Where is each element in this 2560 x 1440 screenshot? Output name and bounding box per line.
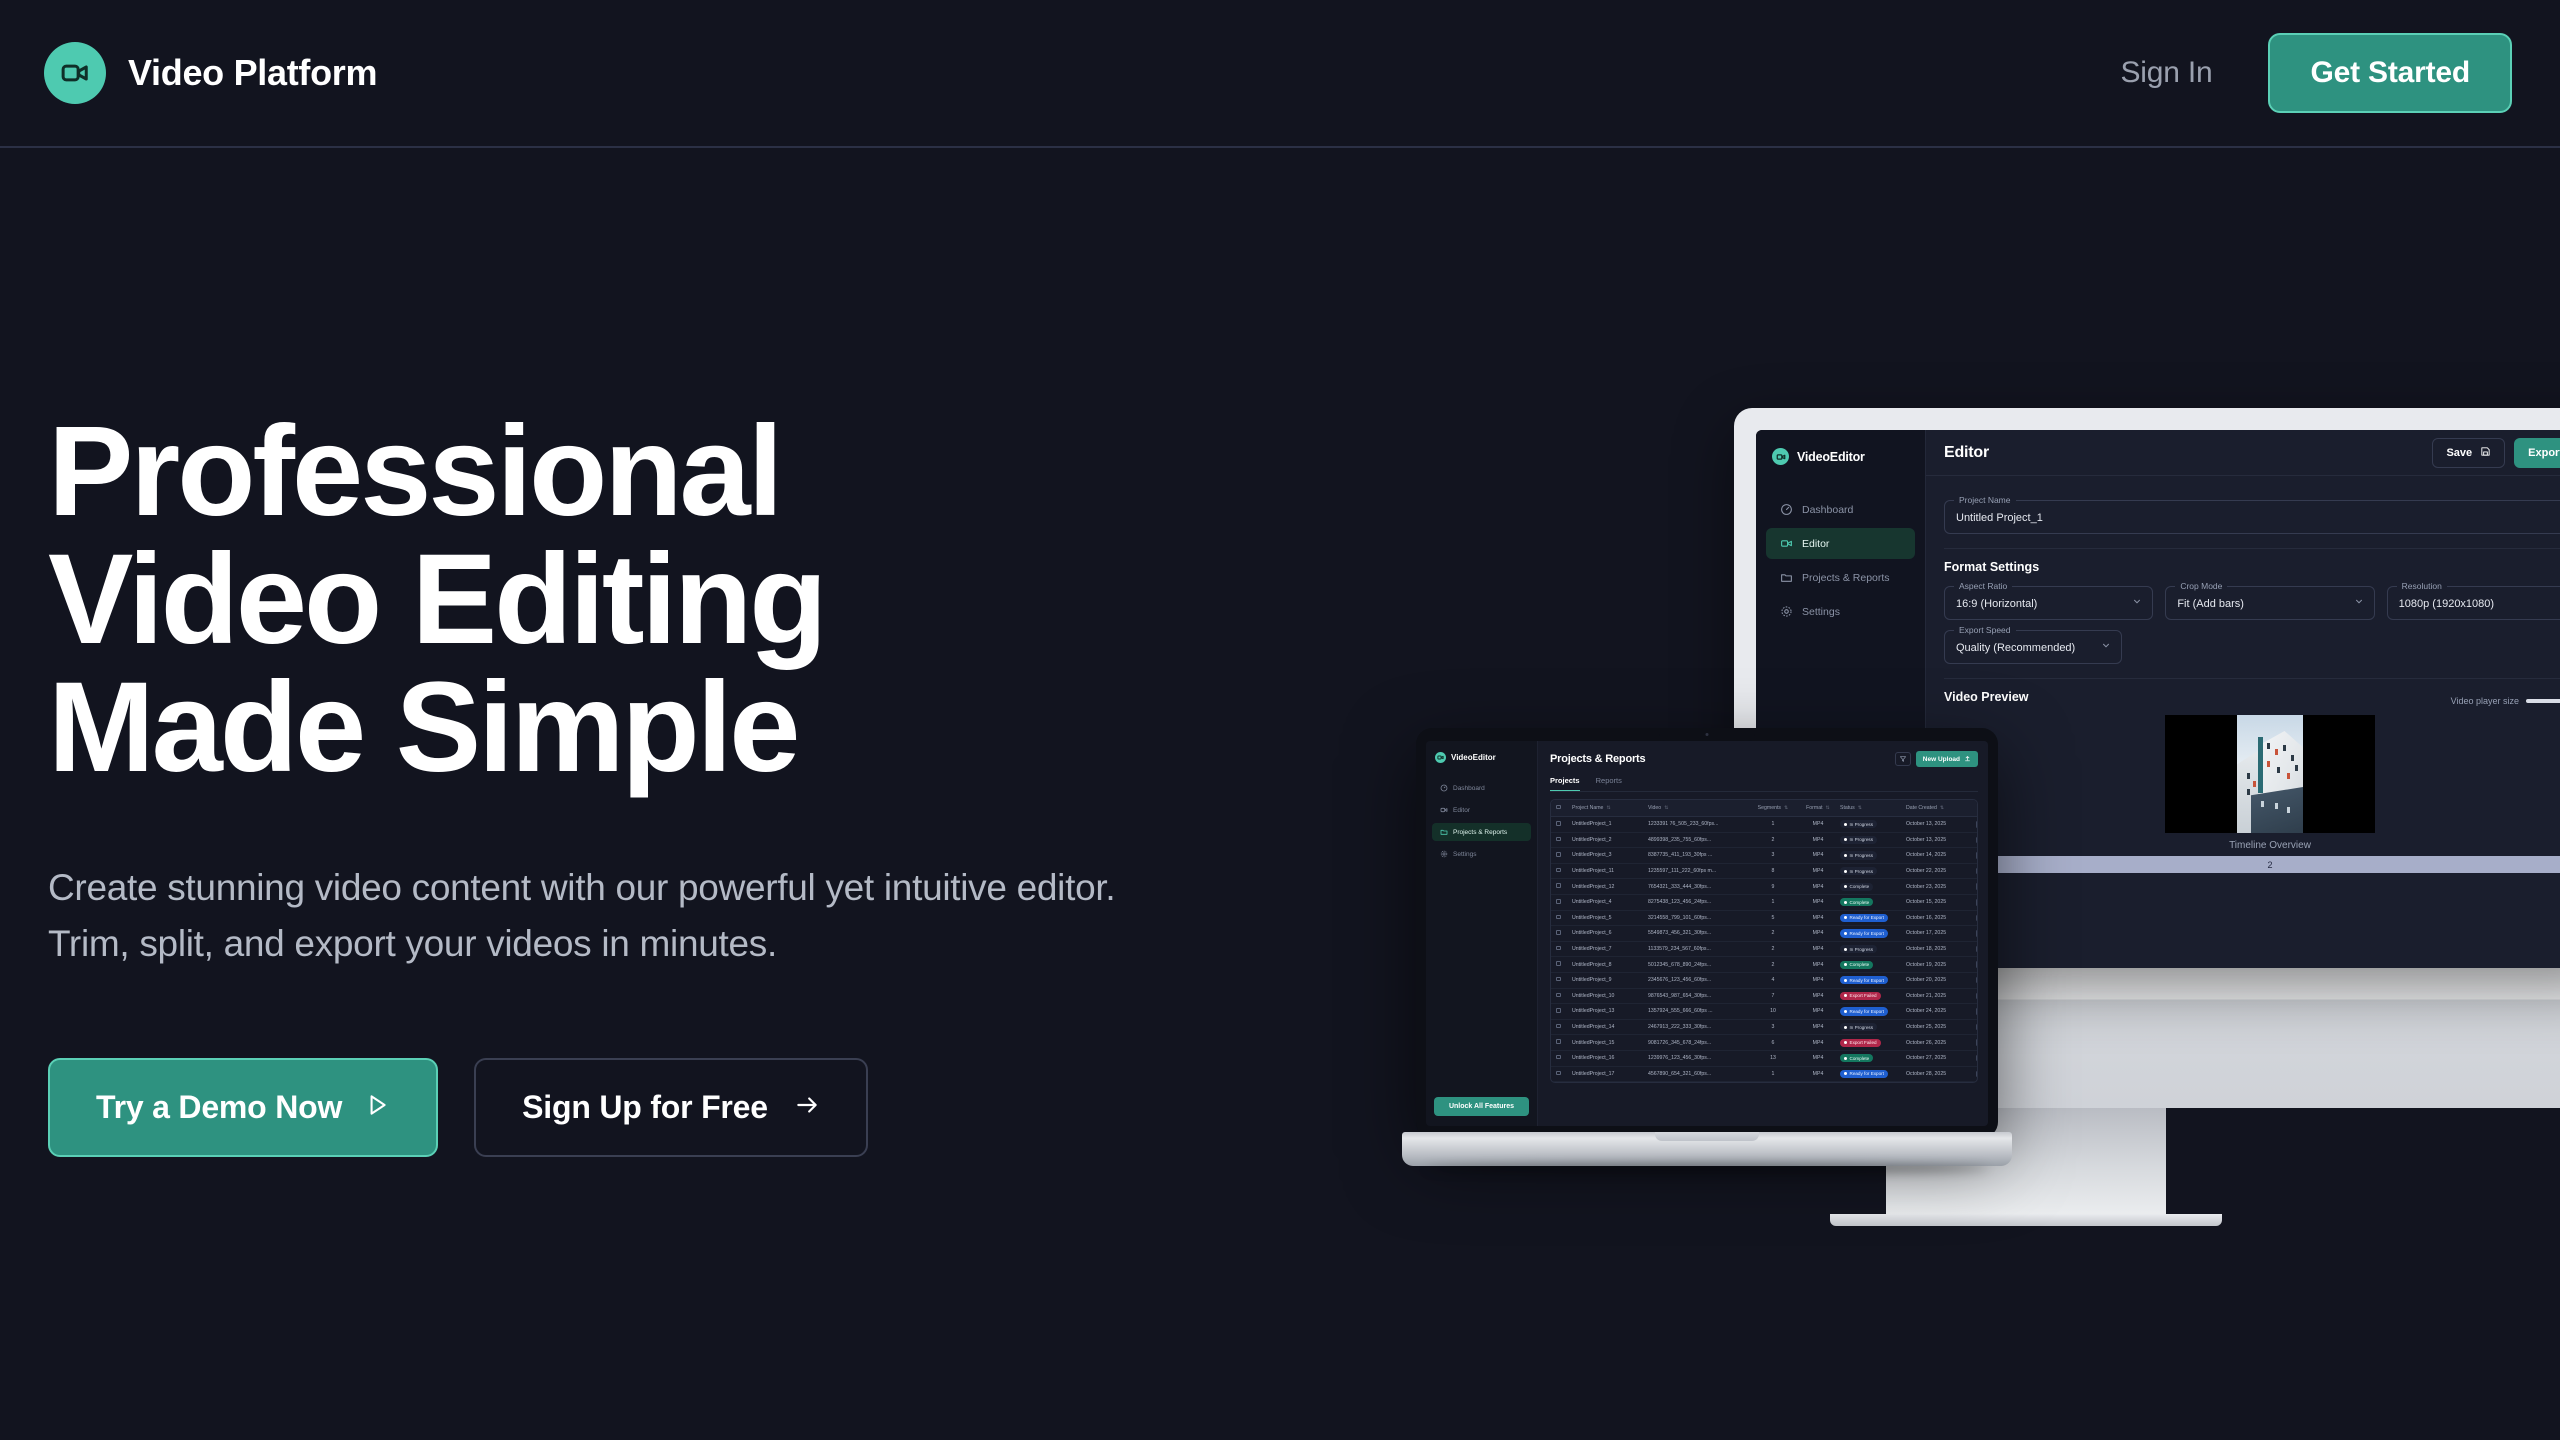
row-checkbox[interactable] [1556, 961, 1572, 968]
video-camera-icon [1772, 448, 1789, 465]
edit-icon[interactable]: ✎ [1976, 883, 1979, 890]
status-badge: Complete [1840, 883, 1873, 891]
brand-logo-link[interactable]: Video Platform [44, 42, 377, 104]
gear-icon [1780, 605, 1793, 618]
row-checkbox[interactable] [1556, 899, 1572, 906]
cell-status: In Progress [1840, 836, 1906, 844]
sidebar-item-label: Projects & Reports [1453, 829, 1507, 836]
cell-status: Ready for Export [1840, 1070, 1906, 1078]
cell-segments: 8 [1750, 868, 1796, 874]
sidebar-item-label: Settings [1453, 851, 1477, 858]
cell-video: 9081726_345_678_24fps... [1648, 1040, 1750, 1046]
row-checkbox[interactable] [1556, 930, 1572, 937]
video-camera-icon [1435, 752, 1446, 763]
table-row[interactable]: UntitledProject_174567890_654_321_60fps.… [1551, 1067, 1977, 1083]
cell-actions: ✎↧🗑 [1966, 1024, 1978, 1031]
edit-icon[interactable]: ✎ [1976, 868, 1979, 875]
arrow-right-icon [794, 1089, 820, 1126]
edit-icon[interactable]: ✎ [1976, 946, 1979, 953]
status-badge: Export Failed [1840, 992, 1881, 1000]
editor-brand-name: VideoEditor [1797, 450, 1865, 464]
editor-topbar-actions: Save Export [2432, 438, 2560, 468]
cell-actions: ✎↧🗑 [1966, 1071, 1978, 1078]
edit-icon[interactable]: ✎ [1976, 1071, 1979, 1078]
player-size-control[interactable]: Video player size [2451, 696, 2560, 706]
monitor-foot [1830, 1214, 2222, 1226]
device-mockups: VideoEditor Dashboard Edit [1330, 0, 2560, 1440]
tab-projects[interactable]: Projects [1550, 776, 1580, 791]
sign-up-free-button[interactable]: Sign Up for Free [474, 1058, 868, 1157]
cell-format: MP4 [1796, 1071, 1840, 1077]
edit-icon[interactable]: ✎ [1976, 852, 1979, 859]
cell-date-created: October 27, 2025 [1906, 1055, 1966, 1061]
cell-segments: 1 [1750, 1071, 1796, 1077]
edit-icon[interactable]: ✎ [1976, 1024, 1979, 1031]
sidebar-item-dashboard[interactable]: Dashboard [1766, 494, 1915, 525]
edit-icon[interactable]: ✎ [1976, 961, 1979, 968]
column-header-segments[interactable]: Segments⇅ [1750, 805, 1796, 811]
cell-date-created: October 15, 2025 [1906, 899, 1966, 905]
cell-date-created: October 23, 2025 [1906, 884, 1966, 890]
cell-date-created: October 16, 2025 [1906, 915, 1966, 921]
sidebar-item-label: Dashboard [1802, 504, 1853, 516]
status-badge: In Progress [1840, 1023, 1877, 1031]
row-checkbox[interactable] [1556, 883, 1572, 890]
cell-project-name: UntitledProject_2 [1572, 837, 1648, 843]
crop-mode-value: Fit (Add bars) [2177, 598, 2244, 610]
row-checkbox[interactable] [1556, 1024, 1572, 1031]
row-checkbox[interactable] [1556, 837, 1572, 844]
player-size-label: Video player size [2451, 696, 2519, 706]
projects-header: Projects & Reports New Upload [1550, 751, 1978, 767]
cell-project-name: UntitledProject_16 [1572, 1055, 1648, 1061]
cell-actions: ✎↧🗑 [1966, 946, 1978, 953]
cell-date-created: October 26, 2025 [1906, 1040, 1966, 1046]
table-row[interactable]: UntitledProject_131357924_555_666_60fps … [1551, 1004, 1977, 1020]
resolution-label: Resolution [2397, 581, 2447, 591]
sidebar-item-label: Projects & Reports [1802, 572, 1890, 584]
edit-icon[interactable]: ✎ [1976, 899, 1979, 906]
cell-actions: ✎↧🗑 [1966, 961, 1978, 968]
resolution-value: 1080p (1920x1080) [2399, 598, 2494, 610]
cell-video: 1239976_123_456_30fps... [1648, 1055, 1750, 1061]
cell-format: MP4 [1796, 821, 1840, 827]
try-demo-button[interactable]: Try a Demo Now [48, 1058, 438, 1157]
cell-format: MP4 [1796, 884, 1840, 890]
status-badge: In Progress [1840, 867, 1877, 875]
editor-body: Project Name Untitled Project_1 Format S… [1926, 476, 2560, 887]
status-badge: Ready for Export [1840, 929, 1888, 937]
cell-format: MP4 [1796, 852, 1840, 858]
cell-format: MP4 [1796, 962, 1840, 968]
cell-actions: ✎↧🗑 [1966, 993, 1978, 1000]
edit-icon[interactable]: ✎ [1976, 977, 1979, 984]
table-row[interactable]: UntitledProject_38387735_411_193_30fps .… [1551, 848, 1977, 864]
cell-video: 4899398_235_755_60fps... [1648, 837, 1750, 843]
cell-actions: ✎↧🗑 [1966, 899, 1978, 906]
export-label: Export [2528, 447, 2560, 459]
unlock-all-features-button[interactable]: Unlock All Features [1434, 1097, 1529, 1116]
editor-topbar: Editor Save Export [1926, 430, 2560, 476]
timeline-caption: Timeline Overview [1944, 840, 2560, 851]
cell-status: Ready for Export [1840, 1007, 1906, 1015]
folder-icon [1780, 571, 1793, 584]
funnel-icon[interactable] [1895, 752, 1911, 766]
table-row[interactable]: UntitledProject_24899398_235_755_60fps..… [1551, 833, 1977, 849]
cell-video: 8275438_123_456_24fps... [1648, 899, 1750, 905]
table-row[interactable]: UntitledProject_85012345_678_890_24fps..… [1551, 957, 1977, 973]
cell-status: Complete [1840, 1054, 1906, 1062]
cell-actions: ✎↧🗑 [1966, 852, 1978, 859]
table-row[interactable]: UntitledProject_127654321_333_444_30fps.… [1551, 879, 1977, 895]
cell-actions: ✎↧🗑 [1966, 1039, 1978, 1046]
hero-cta-group: Try a Demo Now Sign Up for Free [48, 1058, 1300, 1157]
save-button[interactable]: Save [2432, 438, 2505, 468]
crop-mode-label: Crop Mode [2175, 581, 2227, 591]
divider [1944, 678, 2560, 679]
cell-segments: 2 [1750, 930, 1796, 936]
table-row[interactable]: UntitledProject_11233391 76_505_233_60fp… [1551, 817, 1977, 833]
table-row[interactable]: UntitledProject_109876543_987_654_30fps.… [1551, 989, 1977, 1005]
cell-date-created: October 17, 2025 [1906, 930, 1966, 936]
sidebar-item-projects-reports[interactable]: Projects & Reports [1432, 823, 1531, 841]
table-row[interactable]: UntitledProject_71133579_234_567_60fps..… [1551, 942, 1977, 958]
cell-project-name: UntitledProject_1 [1572, 821, 1648, 827]
column-header-status[interactable]: Status⇅ [1840, 805, 1906, 811]
tab-reports[interactable]: Reports [1596, 776, 1622, 791]
cell-date-created: October 25, 2025 [1906, 1024, 1966, 1030]
cell-project-name: UntitledProject_4 [1572, 899, 1648, 905]
player-size-slider[interactable] [2526, 699, 2560, 703]
cell-video: 7654321_333_444_30fps... [1648, 884, 1750, 890]
cell-project-name: UntitledProject_7 [1572, 946, 1648, 952]
project-name-label: Project Name [1954, 495, 2016, 505]
table-header-row: Project Name⇅ Video⇅ Segments⇅ Format⇅ S… [1551, 800, 1977, 817]
folder-icon [1440, 828, 1448, 836]
laptop-base [1402, 1132, 2012, 1166]
edit-icon[interactable]: ✎ [1976, 993, 1979, 1000]
projects-tabs: Projects Reports [1550, 776, 1978, 792]
table-row[interactable]: UntitledProject_48275438_123_456_24fps..… [1551, 895, 1977, 911]
projects-app: VideoEditor Dashboard Editor Projec [1426, 741, 1988, 1126]
page-title: Professional Video Editing Made Simple [48, 408, 1300, 792]
projects-sidebar: VideoEditor Dashboard Editor Projec [1426, 741, 1538, 1126]
cell-video: 5549873_456_321_30fps... [1648, 930, 1750, 936]
video-camera-icon [1440, 806, 1448, 814]
save-disk-icon [2480, 446, 2491, 460]
cell-date-created: October 21, 2025 [1906, 993, 1966, 999]
cell-segments: 9 [1750, 884, 1796, 890]
cell-video: 8387735_411_193_30fps ... [1648, 852, 1750, 858]
status-badge: Export Failed [1840, 1039, 1881, 1047]
column-header-format[interactable]: Format⇅ [1796, 805, 1840, 811]
projects-table: Project Name⇅ Video⇅ Segments⇅ Format⇅ S… [1550, 799, 1978, 1083]
cell-segments: 10 [1750, 1008, 1796, 1014]
edit-icon[interactable]: ✎ [1976, 1008, 1979, 1015]
aspect-ratio-label: Aspect Ratio [1954, 581, 2012, 591]
aspect-ratio-value: 16:9 (Horizontal) [1956, 598, 2037, 610]
cell-project-name: UntitledProject_13 [1572, 1008, 1648, 1014]
column-header-project-name[interactable]: Project Name⇅ [1572, 805, 1648, 811]
edit-icon[interactable]: ✎ [1976, 1055, 1979, 1062]
cell-segments: 3 [1750, 1024, 1796, 1030]
export-speed-label: Export Speed [1954, 625, 2016, 635]
cell-video: 1357924_555_666_60fps ... [1648, 1008, 1750, 1014]
cell-status: Ready for Export [1840, 914, 1906, 922]
laptop-screen: VideoEditor Dashboard Editor Projec [1426, 741, 1988, 1126]
cell-status: Complete [1840, 898, 1906, 906]
cell-video: 1235597_111_222_60fps m... [1648, 868, 1750, 874]
cell-date-created: October 24, 2025 [1906, 1008, 1966, 1014]
laptop-mockup: VideoEditor Dashboard Editor Projec [1402, 728, 2012, 1188]
cell-project-name: UntitledProject_10 [1572, 993, 1648, 999]
cell-project-name: UntitledProject_6 [1572, 930, 1648, 936]
cell-project-name: UntitledProject_15 [1572, 1040, 1648, 1046]
cell-segments: 5 [1750, 915, 1796, 921]
sidebar-item-label: Editor [1453, 807, 1470, 814]
projects-page-title: Projects & Reports [1550, 753, 1645, 765]
cell-date-created: October 22, 2025 [1906, 868, 1966, 874]
column-header-video[interactable]: Video⇅ [1648, 805, 1750, 811]
export-button[interactable]: Export [2514, 438, 2560, 468]
row-checkbox[interactable] [1556, 915, 1572, 922]
cell-status: In Progress [1840, 851, 1906, 859]
cell-format: MP4 [1796, 977, 1840, 983]
column-header-date-created[interactable]: Date Created⇅ [1906, 805, 1966, 811]
cell-date-created: October 13, 2025 [1906, 837, 1966, 843]
edit-icon[interactable]: ✎ [1976, 837, 1979, 844]
video-preview-heading: Video Preview [1944, 690, 2029, 704]
status-badge: In Progress [1840, 836, 1877, 844]
new-upload-button[interactable]: New Upload [1916, 751, 1978, 767]
cell-segments: 2 [1750, 962, 1796, 968]
projects-brand[interactable]: VideoEditor [1426, 752, 1537, 777]
video-camera-icon [1780, 537, 1793, 550]
cell-actions: ✎↧🗑 [1966, 1008, 1978, 1015]
cell-segments: 6 [1750, 1040, 1796, 1046]
gauge-icon [1440, 784, 1448, 792]
sidebar-item-dashboard[interactable]: Dashboard [1432, 779, 1531, 797]
cell-segments: 7 [1750, 993, 1796, 999]
cell-status: In Progress [1840, 867, 1906, 875]
try-demo-label: Try a Demo Now [96, 1089, 342, 1126]
cell-segments: 3 [1750, 852, 1796, 858]
brand-name: Video Platform [128, 52, 377, 94]
cell-actions: ✎↧🗑 [1966, 915, 1978, 922]
laptop-shadow [1426, 1164, 1988, 1173]
column-header-actions: Actions [1966, 805, 1978, 811]
cell-actions: ✎↧🗑 [1966, 883, 1978, 890]
cell-video: 2467913_222_333_30fps... [1648, 1024, 1750, 1030]
new-upload-label: New Upload [1923, 756, 1960, 763]
table-row[interactable]: UntitledProject_161239976_123_456_30fps.… [1551, 1051, 1977, 1067]
status-badge: Complete [1840, 898, 1873, 906]
cell-video: 4567890_654_321_60fps... [1648, 1071, 1750, 1077]
status-badge: In Progress [1840, 945, 1877, 953]
timeline-bar[interactable]: 2 [1944, 856, 2560, 873]
status-badge: Ready for Export [1840, 976, 1888, 984]
table-body: UntitledProject_11233391 76_505_233_60fp… [1551, 817, 1977, 1082]
table-row[interactable]: UntitledProject_92345676_123_456_60fps..… [1551, 973, 1977, 989]
row-checkbox[interactable] [1556, 1055, 1572, 1062]
project-name-value: Untitled Project_1 [1956, 512, 2043, 524]
sidebar-item-label: Editor [1802, 538, 1829, 550]
cell-status: In Progress [1840, 1023, 1906, 1031]
row-checkbox[interactable] [1556, 1039, 1572, 1046]
row-checkbox[interactable] [1556, 993, 1572, 1000]
export-speed-select[interactable]: Export Speed Quality (Recommended) [1944, 630, 2122, 664]
projects-brand-name: VideoEditor [1451, 753, 1496, 762]
cell-actions: ✎↧🗑 [1966, 930, 1978, 937]
cell-project-name: UntitledProject_9 [1572, 977, 1648, 983]
sidebar-item-projects-reports[interactable]: Projects & Reports [1766, 562, 1915, 593]
cell-status: Ready for Export [1840, 929, 1906, 937]
projects-header-actions: New Upload [1895, 751, 1978, 767]
cell-video: 1233391 76_505_233_60fps... [1648, 821, 1750, 827]
edit-icon[interactable]: ✎ [1976, 821, 1979, 828]
cell-status: Complete [1840, 961, 1906, 969]
status-badge: In Progress [1840, 820, 1877, 828]
cell-video: 3214558_799_101_60fps... [1648, 915, 1750, 921]
play-triangle-icon [364, 1089, 390, 1126]
video-camera-icon [44, 42, 106, 104]
cell-project-name: UntitledProject_5 [1572, 915, 1648, 921]
select-all-checkbox[interactable] [1556, 805, 1572, 812]
cell-segments: 2 [1750, 837, 1796, 843]
cell-actions: ✎↧🗑 [1966, 868, 1978, 875]
cell-date-created: October 18, 2025 [1906, 946, 1966, 952]
upload-icon [1964, 755, 1971, 764]
chevron-down-icon [2132, 597, 2142, 610]
save-label: Save [2446, 447, 2472, 459]
divider [1944, 548, 2560, 549]
status-badge: In Progress [1840, 851, 1877, 859]
cell-status: In Progress [1840, 945, 1906, 953]
cell-status: Export Failed [1840, 1039, 1906, 1047]
crop-mode-select[interactable]: Crop Mode Fit (Add bars) [2165, 586, 2374, 620]
row-checkbox[interactable] [1556, 821, 1572, 828]
edit-icon[interactable]: ✎ [1976, 930, 1979, 937]
cell-format: MP4 [1796, 1055, 1840, 1061]
cell-date-created: October 28, 2025 [1906, 1071, 1966, 1077]
cell-format: MP4 [1796, 837, 1840, 843]
cell-project-name: UntitledProject_17 [1572, 1071, 1648, 1077]
cell-actions: ✎↧🗑 [1966, 977, 1978, 984]
cell-segments: 13 [1750, 1055, 1796, 1061]
cell-format: MP4 [1796, 946, 1840, 952]
status-badge: Ready for Export [1840, 1007, 1888, 1015]
cell-format: MP4 [1796, 1008, 1840, 1014]
chevron-down-icon [2354, 597, 2364, 610]
editor-brand[interactable]: VideoEditor [1756, 448, 1925, 491]
project-name-field[interactable]: Project Name Untitled Project_1 [1944, 500, 2560, 534]
aspect-ratio-select[interactable]: Aspect Ratio 16:9 (Horizontal) [1944, 586, 2153, 620]
sign-up-free-label: Sign Up for Free [522, 1089, 768, 1126]
projects-main: Projects & Reports New Upload [1538, 741, 1988, 1126]
gauge-icon [1780, 503, 1793, 516]
cell-format: MP4 [1796, 1040, 1840, 1046]
cell-project-name: UntitledProject_8 [1572, 962, 1648, 968]
sidebar-item-settings[interactable]: Settings [1432, 845, 1531, 863]
cell-video: 5012345_678_890_24fps... [1648, 962, 1750, 968]
cell-format: MP4 [1796, 915, 1840, 921]
sidebar-item-label: Settings [1802, 606, 1840, 618]
cell-format: MP4 [1796, 993, 1840, 999]
chevron-down-icon [2101, 641, 2111, 654]
table-row[interactable]: UntitledProject_111235597_111_222_60fps … [1551, 864, 1977, 880]
resolution-select[interactable]: Resolution 1080p (1920x1080) [2387, 586, 2560, 620]
sidebar-item-label: Dashboard [1453, 785, 1485, 792]
cell-format: MP4 [1796, 930, 1840, 936]
laptop-notch [1659, 728, 1755, 741]
hero-section: Professional Video Editing Made Simple C… [0, 148, 1300, 1157]
row-checkbox[interactable] [1556, 946, 1572, 953]
table-row[interactable]: UntitledProject_142467913_222_333_30fps.… [1551, 1020, 1977, 1036]
gear-icon [1440, 850, 1448, 858]
cell-date-created: October 13, 2025 [1906, 821, 1966, 827]
status-badge: Complete [1840, 961, 1873, 969]
cell-date-created: October 14, 2025 [1906, 852, 1966, 858]
hero-subtitle: Create stunning video content with our p… [48, 860, 1148, 972]
cell-date-created: October 20, 2025 [1906, 977, 1966, 983]
sidebar-item-editor[interactable]: Editor [1766, 528, 1915, 559]
cell-format: MP4 [1796, 1024, 1840, 1030]
cell-actions: ✎↧🗑 [1966, 837, 1978, 844]
laptop-lid: VideoEditor Dashboard Editor Projec [1416, 728, 1998, 1138]
sidebar-item-settings[interactable]: Settings [1766, 596, 1915, 627]
status-badge: Complete [1840, 1054, 1873, 1062]
sidebar-item-editor[interactable]: Editor [1432, 801, 1531, 819]
video-preview-player[interactable] [2165, 715, 2375, 833]
format-settings-heading: Format Settings [1944, 560, 2560, 574]
cell-format: MP4 [1796, 899, 1840, 905]
cell-status: Ready for Export [1840, 976, 1906, 984]
editor-page-title: Editor [1944, 444, 1989, 462]
editor-main: Editor Save Export [1926, 430, 2560, 968]
row-checkbox[interactable] [1556, 1071, 1572, 1078]
row-checkbox[interactable] [1556, 868, 1572, 875]
row-checkbox[interactable] [1556, 1008, 1572, 1015]
table-row[interactable]: UntitledProject_159081726_345_678_24fps.… [1551, 1035, 1977, 1051]
table-row[interactable]: UntitledProject_65549873_456_321_30fps..… [1551, 926, 1977, 942]
cell-status: Complete [1840, 883, 1906, 891]
row-checkbox[interactable] [1556, 852, 1572, 859]
cell-project-name: UntitledProject_3 [1572, 852, 1648, 858]
cell-segments: 1 [1750, 899, 1796, 905]
format-field-row-2: Export Speed Quality (Recommended) [1944, 620, 2560, 664]
edit-icon[interactable]: ✎ [1976, 1039, 1979, 1046]
preview-thumbnail-image [2237, 715, 2303, 833]
status-badge: Ready for Export [1840, 914, 1888, 922]
cell-segments: 2 [1750, 946, 1796, 952]
cell-segments: 4 [1750, 977, 1796, 983]
cell-format: MP4 [1796, 868, 1840, 874]
cell-project-name: UntitledProject_12 [1572, 884, 1648, 890]
cell-actions: ✎↧🗑 [1966, 1055, 1978, 1062]
cell-status: In Progress [1840, 820, 1906, 828]
status-badge: Ready for Export [1840, 1070, 1888, 1078]
cell-actions: ✎↧🗑 [1966, 821, 1978, 828]
row-checkbox[interactable] [1556, 977, 1572, 984]
cell-video: 2345676_123_456_60fps... [1648, 977, 1750, 983]
cell-video: 1133579_234_567_60fps... [1648, 946, 1750, 952]
video-preview-header: Video Preview Video player size [1944, 690, 2560, 706]
edit-icon[interactable]: ✎ [1976, 915, 1979, 922]
table-row[interactable]: UntitledProject_53214558_799_101_60fps..… [1551, 911, 1977, 927]
cell-video: 9876543_987_654_30fps... [1648, 993, 1750, 999]
cell-project-name: UntitledProject_11 [1572, 868, 1648, 874]
cell-project-name: UntitledProject_14 [1572, 1024, 1648, 1030]
